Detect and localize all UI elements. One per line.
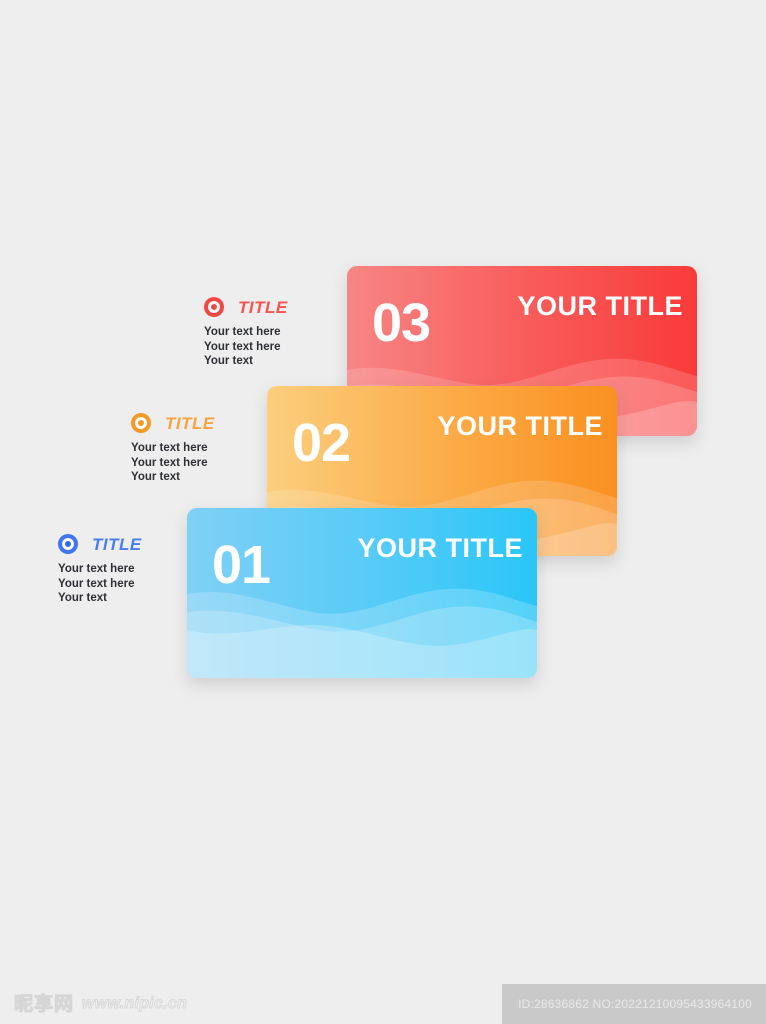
label-group-02-lines: Your text here Your text here Your text	[131, 441, 215, 485]
label-line: Your text here	[58, 577, 142, 592]
label-group-03-lines: Your text here Your text here Your text	[204, 325, 288, 369]
infographic-canvas: 03 YOUR TITLE 02 YOUR TITLE	[0, 0, 766, 1024]
card-03-number: 03	[372, 296, 430, 350]
label-group-01-lines: Your text here Your text here Your text	[58, 562, 142, 606]
label-group-03-title: TITLE	[238, 299, 288, 316]
donut-icon	[58, 534, 78, 554]
label-line: Your text here	[131, 441, 215, 456]
card-01-title: YOUR TITLE	[358, 535, 524, 562]
card-02-number: 02	[292, 416, 350, 470]
label-line: Your text here	[131, 456, 215, 471]
label-line: Your text here	[58, 562, 142, 577]
label-group-03: TITLE Your text here Your text here Your…	[204, 296, 288, 369]
label-group-01-title: TITLE	[92, 536, 142, 553]
label-line: Your text	[204, 354, 288, 369]
id-text: ID:28636862 NO:20221210095433964100	[518, 997, 752, 1011]
label-group-02-title: TITLE	[165, 415, 215, 432]
card-02-title: YOUR TITLE	[438, 413, 604, 440]
watermark: 昵享网 www.nipic.cn	[14, 992, 187, 1016]
watermark-url: www.nipic.cn	[82, 996, 187, 1012]
donut-icon	[204, 297, 224, 317]
label-group-01: TITLE Your text here Your text here Your…	[58, 533, 142, 606]
card-03-title: YOUR TITLE	[518, 293, 684, 320]
label-line: Your text	[131, 470, 215, 485]
watermark-logo: 昵享网	[14, 995, 74, 1014]
label-line: Your text	[58, 591, 142, 606]
label-group-02: TITLE Your text here Your text here Your…	[131, 412, 215, 485]
card-01[interactable]: 01 YOUR TITLE	[187, 508, 537, 678]
label-group-01-head: TITLE	[58, 533, 142, 555]
label-line: Your text here	[204, 340, 288, 355]
donut-icon	[131, 413, 151, 433]
card-01-number: 01	[212, 538, 270, 592]
label-group-02-head: TITLE	[131, 412, 215, 434]
footer-bar: 昵享网 www.nipic.cn ID:28636862 NO:20221210…	[0, 984, 766, 1024]
label-line: Your text here	[204, 325, 288, 340]
id-bar: ID:28636862 NO:20221210095433964100	[502, 984, 766, 1024]
label-group-03-head: TITLE	[204, 296, 288, 318]
